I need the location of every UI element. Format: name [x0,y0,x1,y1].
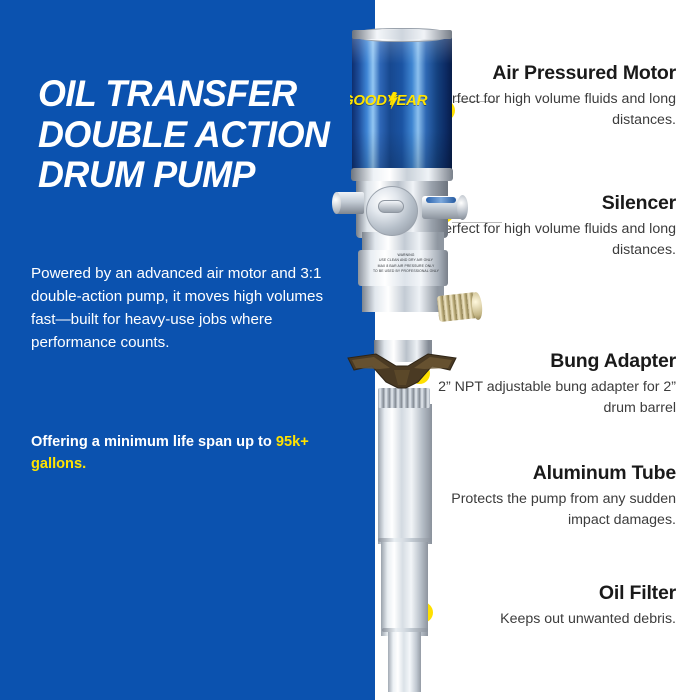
tube-seam-upper [378,538,432,542]
callout-oil-filter: Oil Filter Keeps out unwanted debris. [430,582,676,630]
callout-title: Silencer [432,192,676,214]
tube-seam-lower [382,628,428,632]
bung-thread-section [378,388,430,408]
callout-air-pressured-motor: Air Pressured Motor Perfect for high vol… [432,62,676,130]
callout-silencer: Silencer Perfect for high volume fluids … [432,192,676,260]
winged-foot-icon [386,92,399,109]
callout-title: Oil Filter [430,582,676,604]
warning-label-text: WARNING USE CLEAN AND DRY AIR ONLY MAX 8… [364,253,448,274]
callout-title: Aluminum Tube [430,462,676,484]
callout-title: Bung Adapter [430,350,676,372]
oil-filter-tip [388,630,421,692]
pump-barrel-lower [362,282,444,312]
bung-adapter-wingnut [346,352,458,390]
motor-upper-band [352,30,452,39]
callout-description: 2” NPT adjustable bung adapter for 2” dr… [430,377,676,417]
pump-head-fitting [378,200,404,213]
callout-description: Keeps out unwanted debris. [430,609,676,629]
callout-description: Protects the pump from any sudden impact… [430,489,676,529]
air-inlet-cap [332,192,341,214]
lifespan-statement: Offering a minimum life span up to 95k+ … [31,432,356,476]
aluminum-tube-lower [381,540,428,636]
goodyear-brand-mark: GOODYEAR [350,92,446,109]
lifespan-prefix: Offering a minimum life span up to [31,434,276,450]
warning-label-band: WARNING USE CLEAN AND DRY AIR ONLY MAX 8… [358,250,448,286]
callout-description: Perfect for high volume fluids and long … [432,219,676,259]
silencer-end-cap [457,195,468,220]
callout-bung-adapter: Bung Adapter 2” NPT adjustable bung adap… [430,350,676,418]
callout-description: Perfect for high volume fluids and long … [432,89,676,129]
callout-aluminum-tube: Aluminum Tube Protects the pump from any… [430,462,676,530]
aluminum-tube-upper [378,404,432,544]
motor-lower-band [351,168,453,181]
page-title: OIL TRANSFER DOUBLE ACTION DRUM PUMP [38,74,358,196]
infographic-canvas: OIL TRANSFER DOUBLE ACTION DRUM PUMP Pow… [0,0,682,700]
product-description: Powered by an advanced air motor and 3:1… [31,262,347,354]
silencer-blue-stripe [426,197,456,203]
callout-title: Air Pressured Motor [432,62,676,84]
